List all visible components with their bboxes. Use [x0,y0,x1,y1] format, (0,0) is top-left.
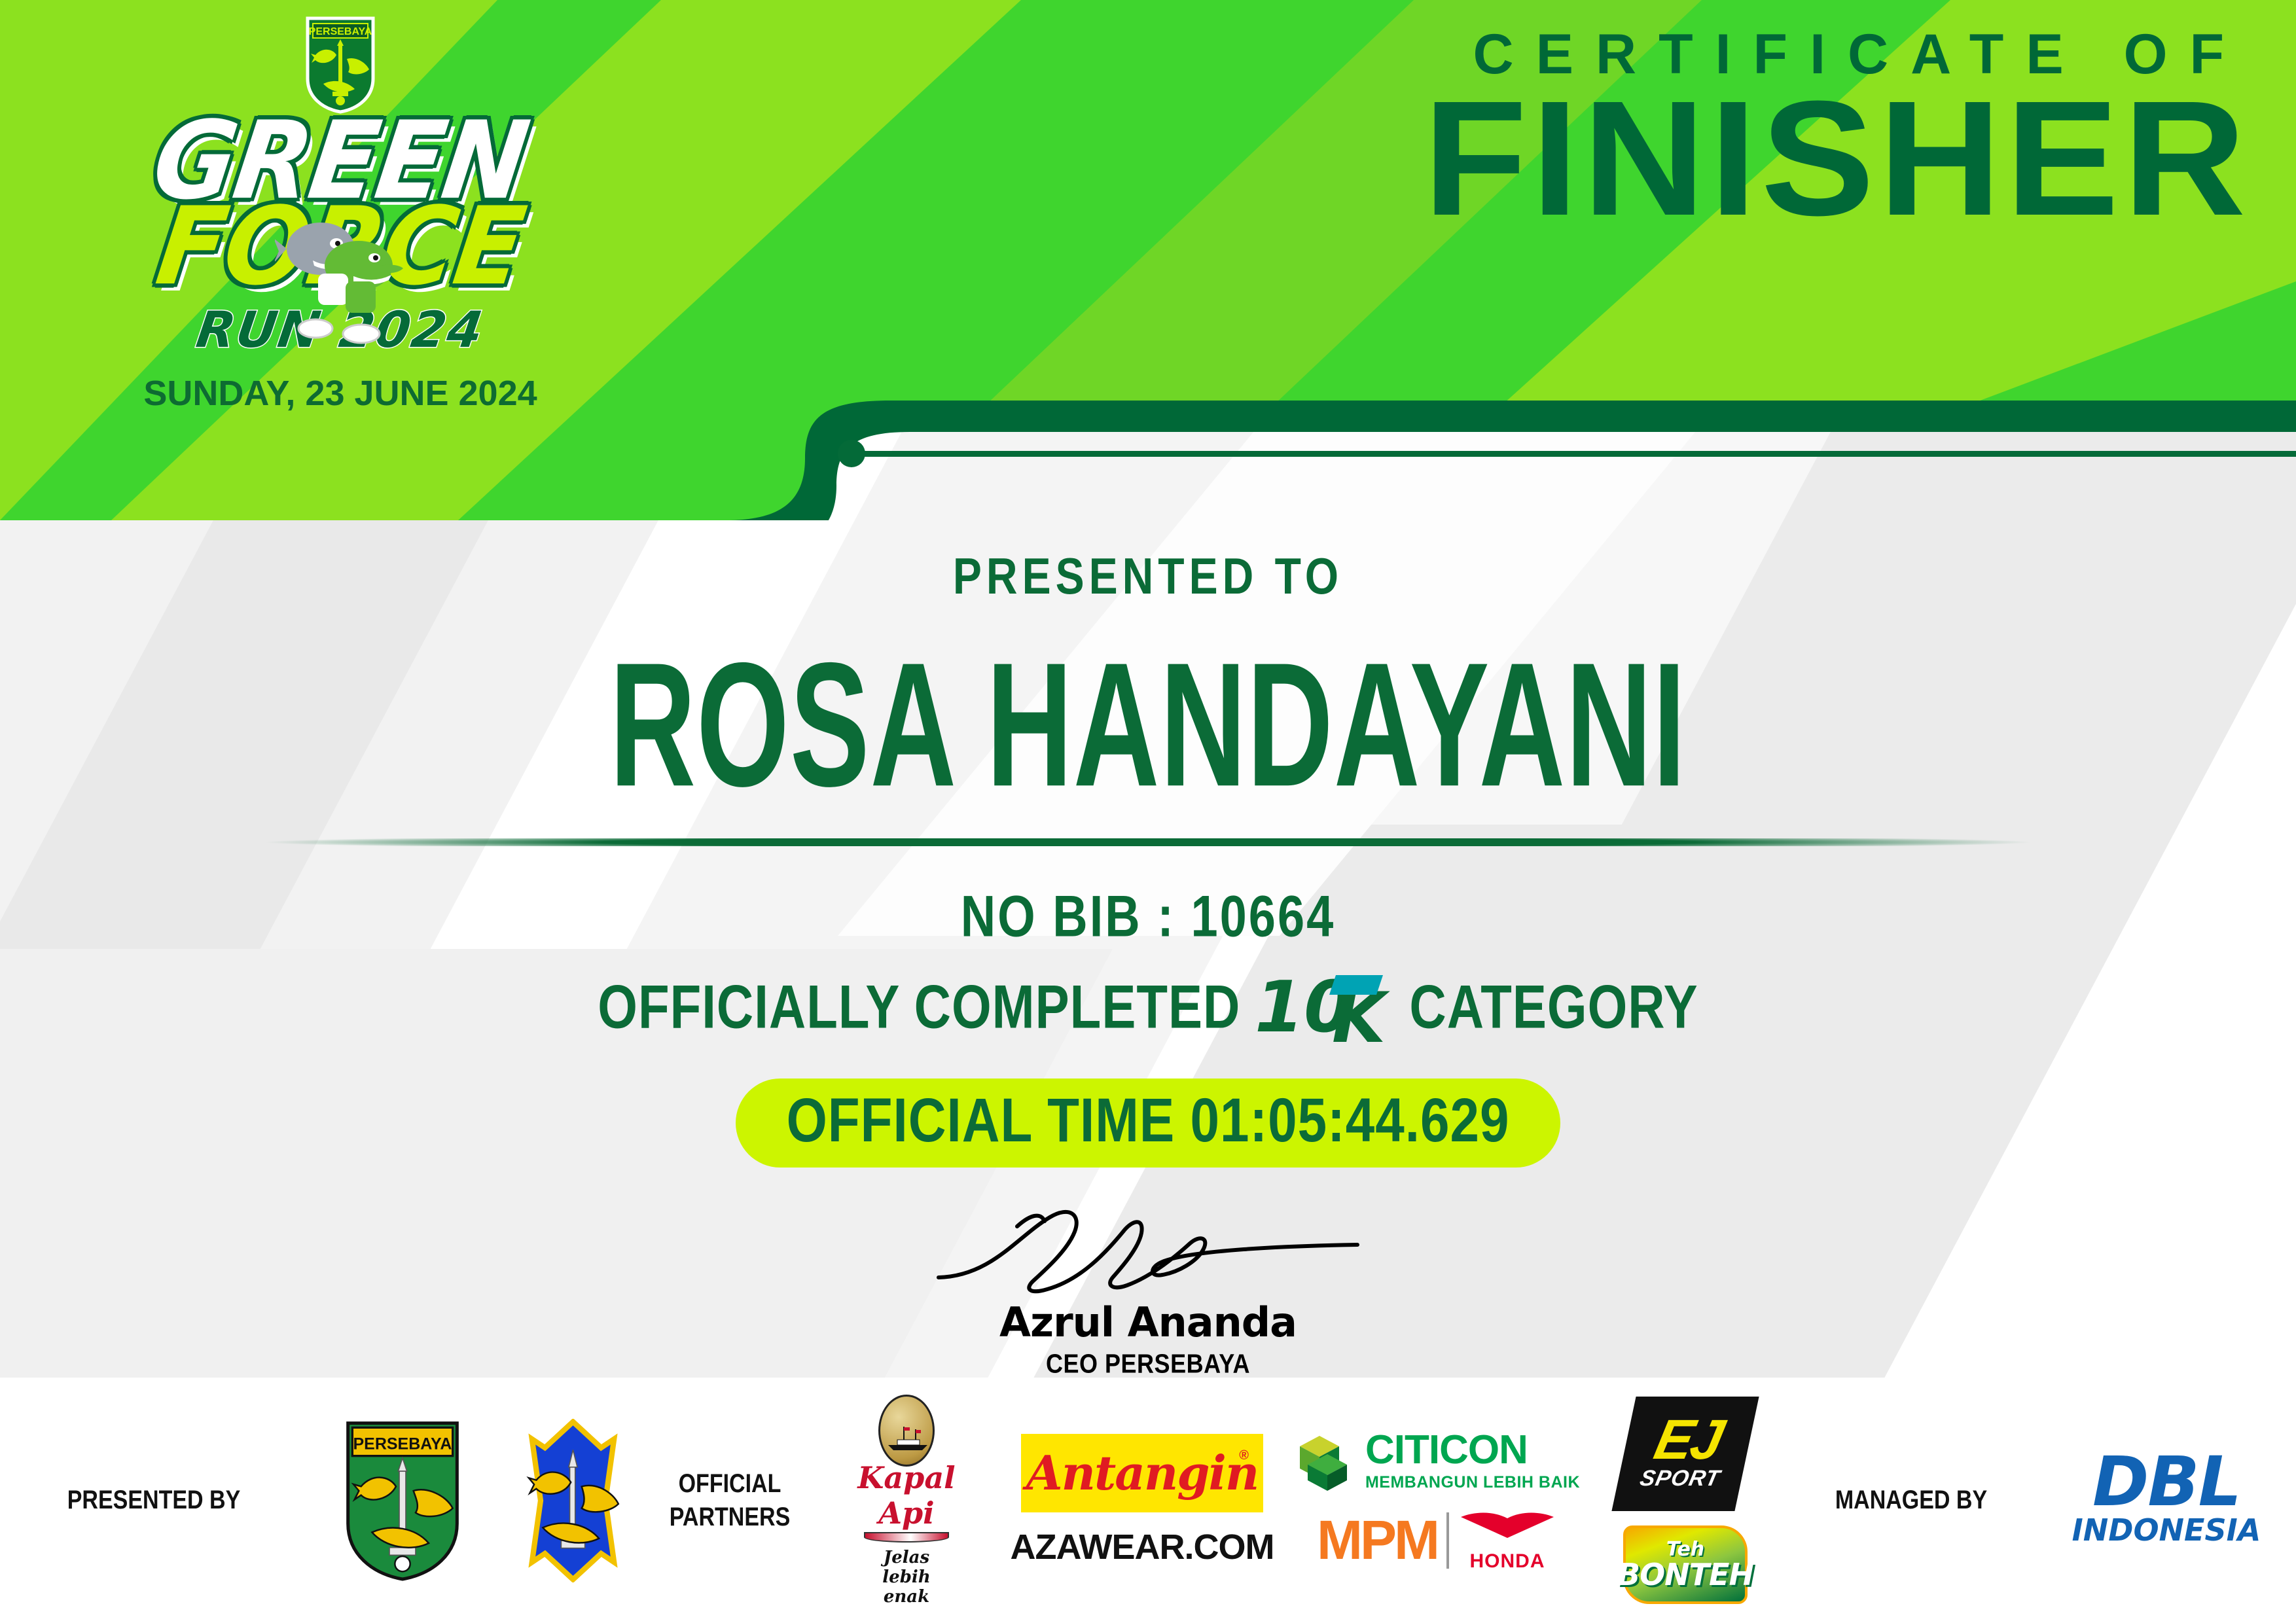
certificate-title-line2: FINISHER [1424,83,2250,234]
mascot-shark-crocodile-icon [275,203,412,353]
certificate-canvas: PERSEBAYA GREEN FORCE RUN 2024 [0,0,2296,1623]
completed-suffix-text: CATEGORY [1409,971,1698,1042]
dbl-indonesia-logo: DBL INDONESIA [2042,1453,2291,1547]
signature-mark-icon [919,1198,1377,1296]
citicon-cube-icon [1293,1428,1356,1493]
antangin-azawear-slot: Antangin ® AZAWEAR.COM [1001,1434,1283,1567]
ship-icon [887,1425,929,1452]
honda-wordmark: HONDA [1458,1550,1556,1573]
citicon-mpm-slot: CITICON MEMBANGUN LEBIH BAIK MPM HONDA [1283,1428,1590,1573]
category-10k-badge-icon: 10 K [1255,975,1395,1038]
decorative-rule-line [864,451,2296,457]
registered-trademark-icon: ® [1239,1448,1249,1463]
decorative-dot-rule [838,440,2296,466]
ej-sport-logo: EJ SPORT [1611,1397,1759,1511]
bib-number-text: NO BIB : 10664 [0,883,2296,950]
managed-by-slot: MANAGED BY [1780,1486,2042,1514]
ej-sport-subtext: SPORT [1638,1466,1723,1491]
sponsor-footer: PRESENTED BY PERSEBAYA [0,1378,2296,1623]
mpm-wordmark: MPM [1317,1516,1437,1565]
surabaya-footer-logo [497,1419,648,1582]
recipient-name: ROSA HANDAYANI [46,637,2250,813]
decorative-dot-icon [838,440,865,467]
svg-text:PERSEBAYA: PERSEBAYA [353,1435,452,1453]
kapal-api-ship-icon [878,1395,935,1467]
kapal-api-logo: Kapal Api Jelas lebih enak [812,1395,1001,1607]
logo-divider [1446,1512,1449,1569]
kapal-api-wordmark: Kapal Api [857,1460,956,1531]
certificate-title-line1: CERTIFICATE OF [1455,24,2250,86]
teh-bonteh-wordmark: BONTEH [1617,1560,1753,1590]
persebaya-crest-icon: PERSEBAYA [304,16,377,114]
citicon-tagline: MEMBANGUN LEBIH BAIK [1365,1473,1580,1492]
signatory-role: CEO PERSEBAYA [1046,1348,1250,1379]
dbl-indonesia-subtext: INDONESIA [2072,1512,2261,1548]
presented-by-slot: PRESENTED BY [0,1486,308,1514]
certificate-body: PRESENTED TO ROSA HANDAYANI NO BIB : 106… [0,520,2296,1378]
completed-prefix-text: OFFICIALLY COMPLETED [598,971,1240,1042]
citicon-wordmark: CITICON [1365,1430,1580,1471]
dbl-wordmark: DBL [2072,1453,2261,1510]
azawear-wordmark: AZAWEAR.COM [1011,1527,1274,1567]
kapal-api-tagline: Jelas lebih enak [857,1548,956,1607]
logo-line-run: RUN 2024 [75,300,607,359]
event-logo-block: PERSEBAYA GREEN FORCE RUN 2024 [79,7,602,414]
official-partners-label: OFFICIAL PARTNERS [670,1467,791,1533]
presented-by-label: PRESENTED BY [67,1484,241,1516]
surabaya-crest-icon [519,1419,627,1582]
official-time-text: OFFICIAL TIME 01:05:44.629 [787,1085,1510,1156]
citicon-logo: CITICON MEMBANGUN LEBIH BAIK [1293,1428,1580,1493]
svg-text:PERSEBAYA: PERSEBAYA [309,26,372,37]
logo-line-force: FORCE [73,203,609,291]
kapal-api-swoosh-icon [864,1532,949,1543]
ej-bonteh-slot: EJ SPORT Teh BONTEH [1590,1397,1780,1604]
category-completed-row: OFFICIALLY COMPLETED 10 K CATEGORY [0,975,2296,1038]
teh-bonteh-logo: Teh BONTEH [1623,1525,1748,1604]
name-divider [264,838,2032,846]
official-partners-slot: OFFICIAL PARTNERS [648,1472,812,1528]
presented-to-label: PRESENTED TO [0,546,2296,605]
ej-wordmark: EJ [1651,1416,1726,1464]
antangin-logo: Antangin ® [1021,1434,1263,1512]
persebaya-crest-icon: PERSEBAYA [337,1419,468,1582]
honda-wing-icon [1458,1508,1556,1544]
logo-line-green: GREEN [72,113,609,210]
certificate-title-block: CERTIFICATE OF FINISHER [1455,24,2250,234]
green-force-logo: GREEN FORCE RUN 2024 [79,116,602,359]
event-date: SUNDAY, 23 JUNE 2024 [79,373,602,414]
managed-by-label: MANAGED BY [1835,1484,1987,1516]
signature-block: Azrul Ananda CEO PERSEBAYA [0,1198,2296,1378]
antangin-wordmark: Antangin [1026,1445,1259,1501]
ten-k-logo-icon: 10 K [1255,971,1395,1043]
mpm-honda-logo: MPM HONDA [1317,1508,1556,1573]
official-time-badge: OFFICIAL TIME 01:05:44.629 [736,1079,1561,1168]
persebaya-footer-logo: PERSEBAYA [308,1419,497,1582]
signatory-name: Azrul Ananda [0,1298,2296,1346]
